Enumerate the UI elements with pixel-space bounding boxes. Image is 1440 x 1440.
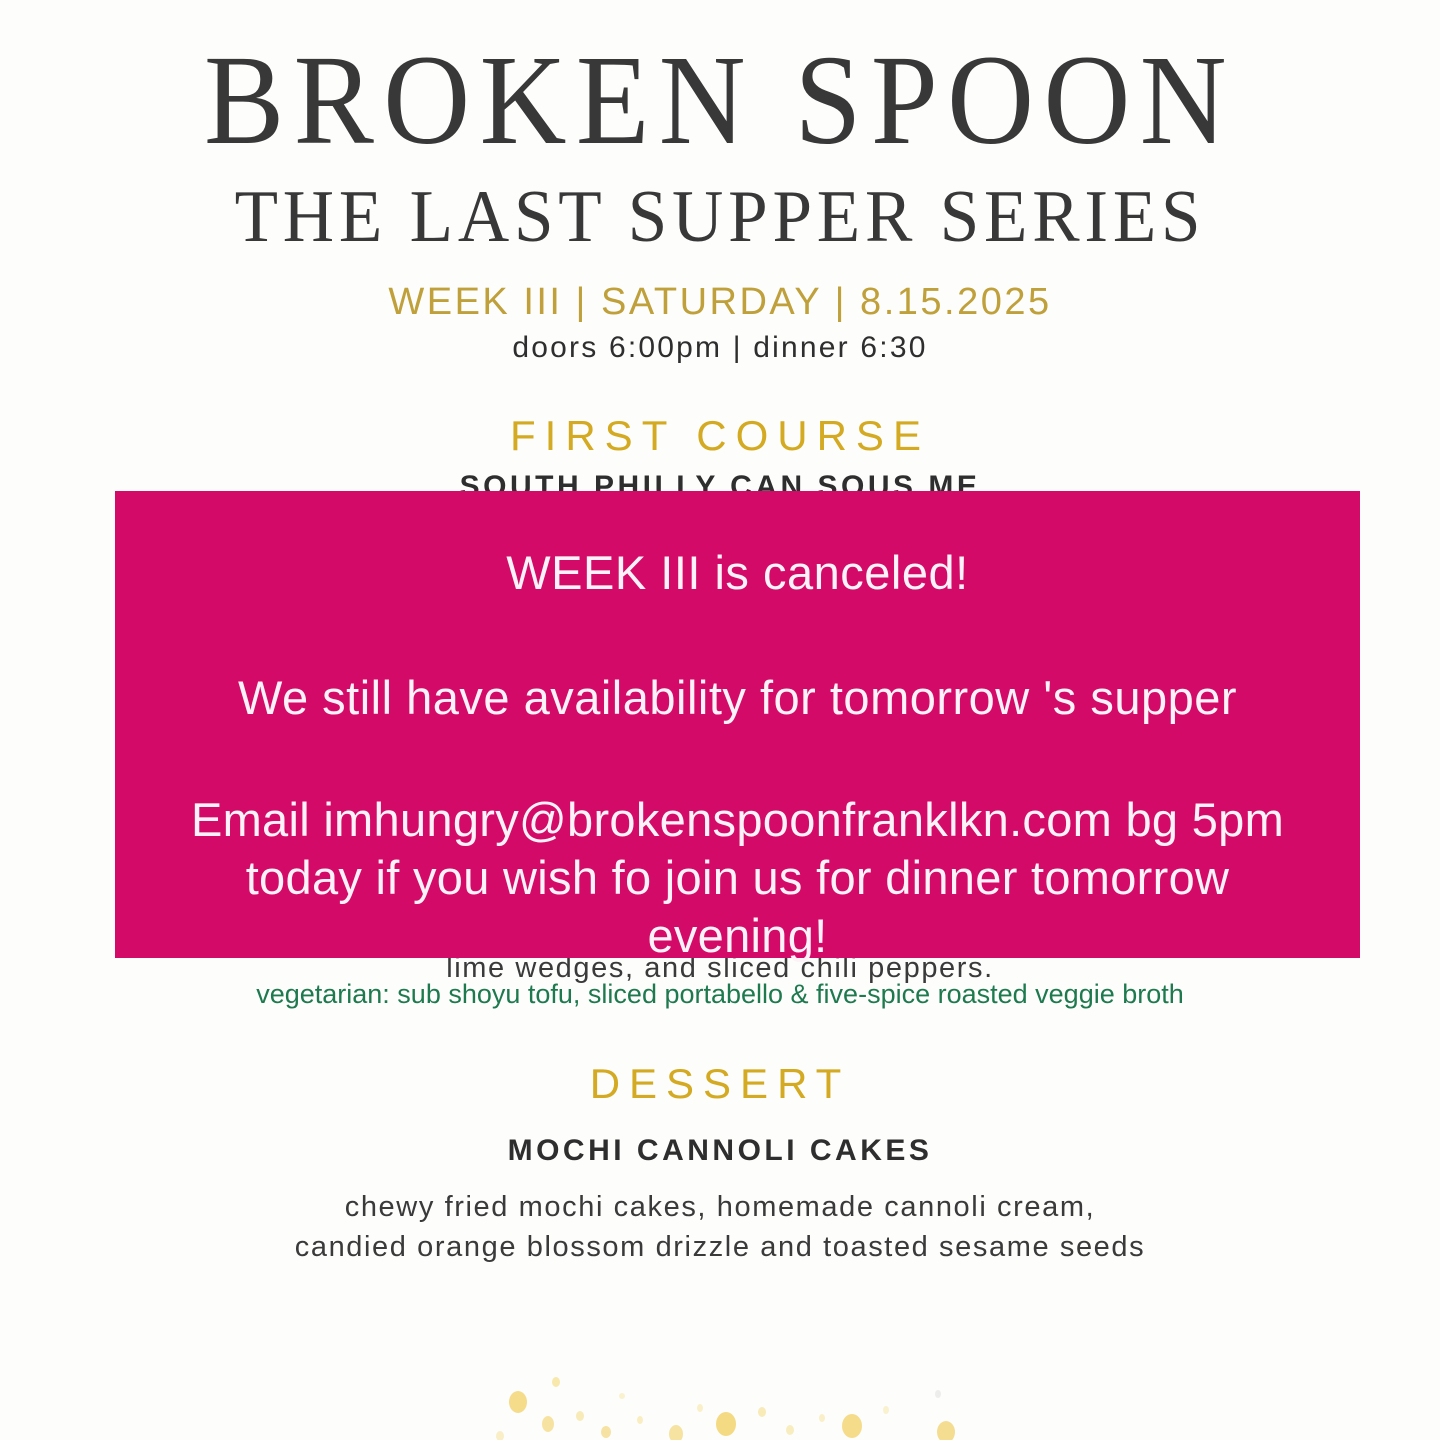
brand-title: BROKEN SPOON [43,36,1397,164]
notice-headline: WEEK III is canceled! [115,549,1360,596]
first-course-heading: FIRST COURSE [0,415,1440,457]
dessert-description: chewy fried mochi cakes, homemade cannol… [0,1187,1440,1267]
notice-availability-text: We still have availability for tomorrow … [115,674,1360,721]
gold-confetti-decoration [0,1320,1440,1440]
vegetarian-substitution-note: vegetarian: sub shoyu tofu, sliced porta… [0,981,1440,1008]
doors-dinner-time-line: doors 6:00pm | dinner 6:30 [0,333,1440,363]
notice-email-instructions: Email imhungry@brokenspoonfranklkn.com b… [115,791,1360,965]
event-date-line: WEEK III | SATURDAY | 8.15.2025 [0,283,1440,321]
series-title: THE LAST SUPPER SERIES [29,180,1411,254]
dessert-description-line-1: chewy fried mochi cakes, homemade cannol… [0,1187,1440,1227]
poster-canvas: BROKEN SPOON THE LAST SUPPER SERIES WEEK… [0,0,1440,1440]
cancellation-notice-banner: WEEK III is canceled! We still have avai… [115,491,1360,958]
dessert-heading: DESSERT [0,1063,1440,1105]
dessert-description-line-2: candied orange blossom drizzle and toast… [0,1227,1440,1267]
dessert-dish-name: MOCHI CANNOLI CAKES [0,1136,1440,1166]
